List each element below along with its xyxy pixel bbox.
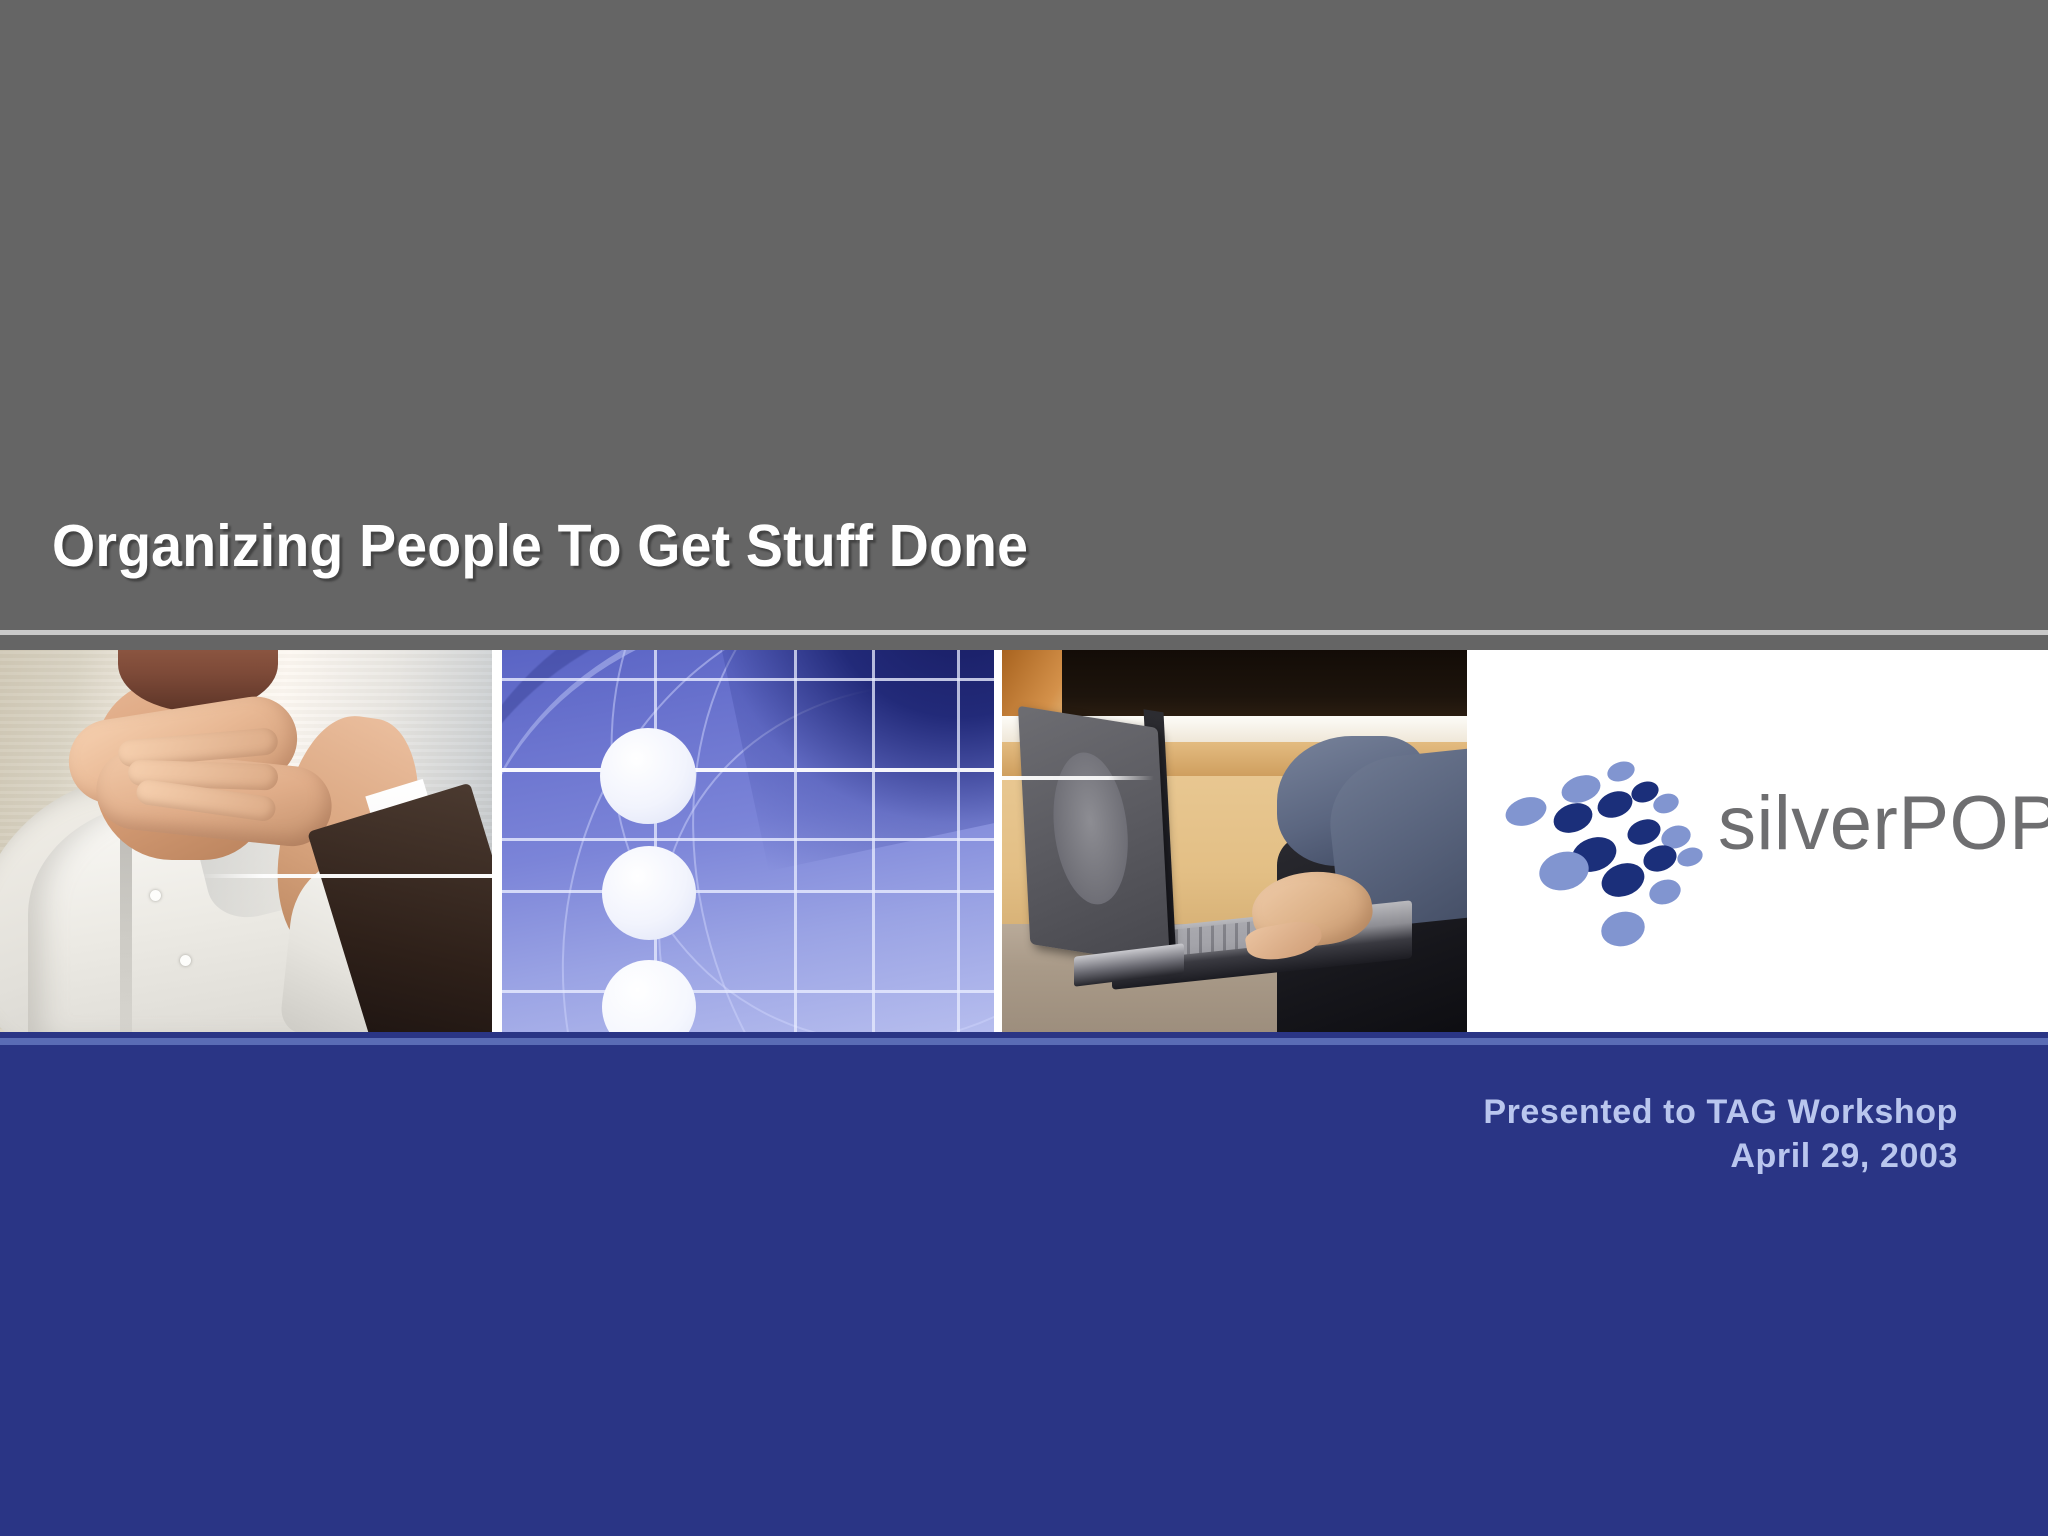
panel2-grid-line-v [794, 650, 797, 1032]
panel3-dark-top [1062, 650, 1467, 716]
panel2-grid-line-h [502, 890, 994, 893]
presented-to-line: Presented to TAG Workshop [1483, 1090, 1958, 1134]
panel2-grid-line-h [502, 990, 994, 993]
footer-accent-stripe [0, 1038, 2048, 1045]
image-strip: silverPOP [0, 650, 2048, 1032]
photo-hands-typing-laptop [1002, 650, 1467, 1032]
panel3-laptop-screen [1018, 706, 1170, 967]
presentation-slide: Organizing People To Get Stuff Done [0, 0, 2048, 1536]
panel2-grid-line-h [502, 768, 994, 772]
presentation-credits: Presented to TAG Workshop April 29, 2003 [1483, 1090, 1958, 1178]
dot-cluster-icon [1503, 746, 1713, 936]
panel2-circle [600, 728, 696, 824]
abstract-blue-graphic [502, 650, 994, 1032]
panel1-shirt-placket [120, 825, 132, 1032]
silverpop-wordmark: silverPOP [1718, 786, 2048, 862]
panel2-grid-line-h [502, 838, 994, 841]
panel3-white-accent-line [1002, 776, 1154, 780]
header-band-lower [0, 635, 2048, 650]
panel2-grid-line-v [957, 650, 960, 1032]
panel2-grid-line-v [872, 650, 875, 1032]
presentation-date: April 29, 2003 [1483, 1134, 1958, 1178]
panel1-shirt-button [180, 955, 191, 966]
panel2-circle [602, 846, 696, 940]
photo-person-clasped-hands [0, 650, 492, 1032]
panel1-shirt-button [150, 890, 161, 901]
silverpop-logo: silverPOP [1503, 746, 2023, 936]
logo-area: silverPOP [1467, 650, 2048, 1032]
panel1-white-accent-line [200, 874, 492, 878]
panel3-screen-glare [1050, 747, 1132, 910]
panel2-grid-line-h [502, 678, 994, 681]
page-title: Organizing People To Get Stuff Done [52, 516, 1028, 578]
